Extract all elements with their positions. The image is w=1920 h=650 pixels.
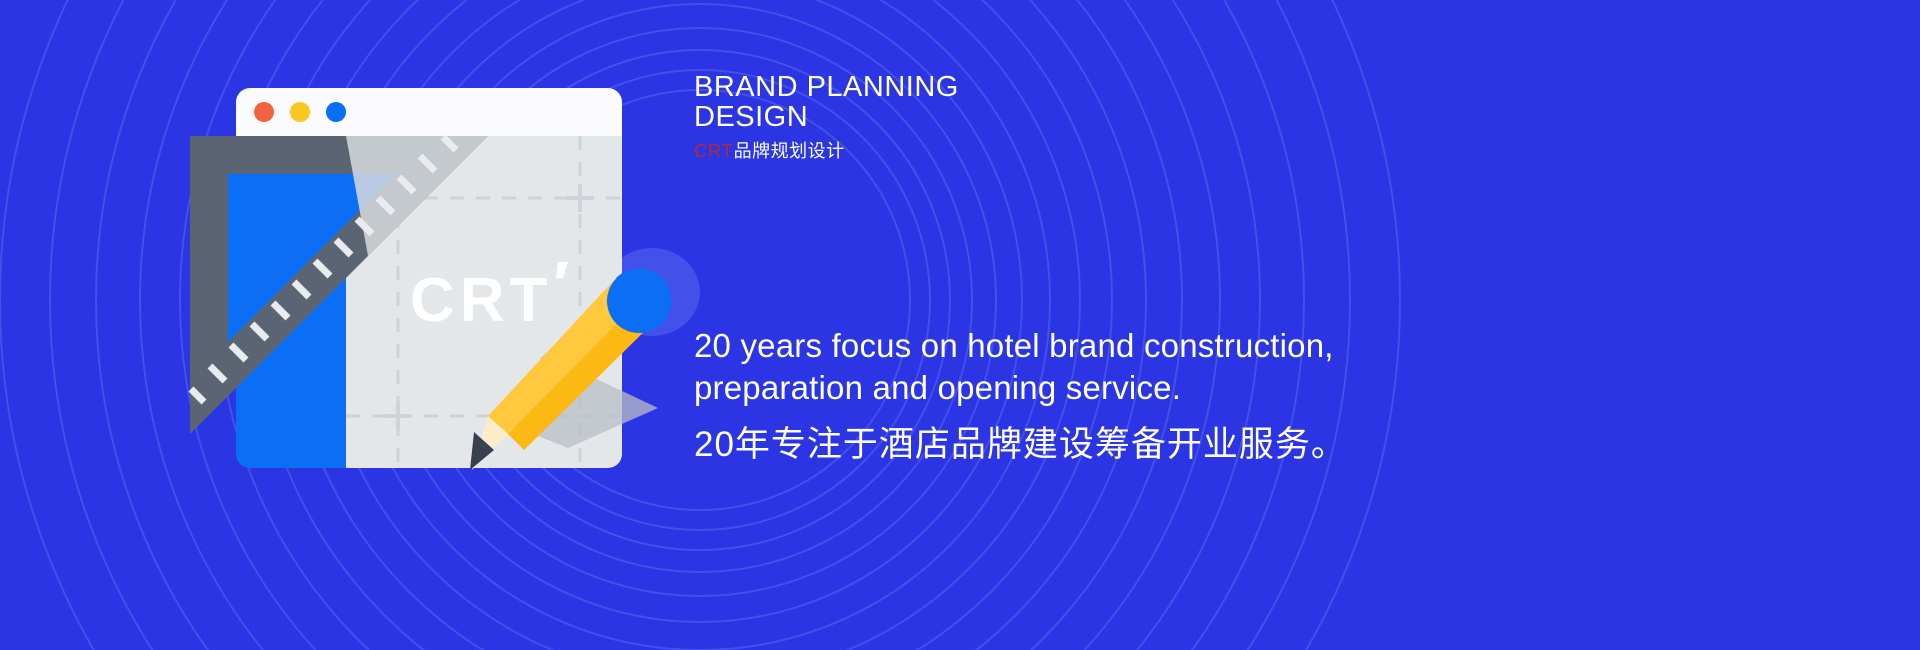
brand-banner: CRT <box>0 0 1920 650</box>
maximize-dot-icon[interactable] <box>326 102 346 122</box>
banner-text-column: BRAND PLANNING DESIGN CRT品牌规划设计 20 years… <box>694 0 1694 650</box>
headline-english: 20 years focus on hotel brand constructi… <box>694 325 1674 409</box>
headline-block: 20 years focus on hotel brand constructi… <box>694 325 1674 467</box>
close-dot-icon[interactable] <box>254 102 274 122</box>
svg-text:CRT: CRT <box>410 266 552 335</box>
headline-chinese: 20年专注于酒店品牌建设筹备开业服务。 <box>694 423 1674 467</box>
eyebrow-subtitle-cn: 品牌规划设计 <box>734 141 845 161</box>
window-controls[interactable] <box>254 102 346 122</box>
eyebrow-title: BRAND PLANNING DESIGN <box>694 72 1394 133</box>
brand-name: CRT <box>694 141 734 161</box>
brand-illustration: CRT <box>188 78 688 478</box>
minimize-dot-icon[interactable] <box>290 102 310 122</box>
eyebrow-block: BRAND PLANNING DESIGN CRT品牌规划设计 <box>694 72 1394 162</box>
canvas-logo: CRT <box>410 262 568 335</box>
eyebrow-subtitle: CRT品牌规划设计 <box>694 141 1394 163</box>
